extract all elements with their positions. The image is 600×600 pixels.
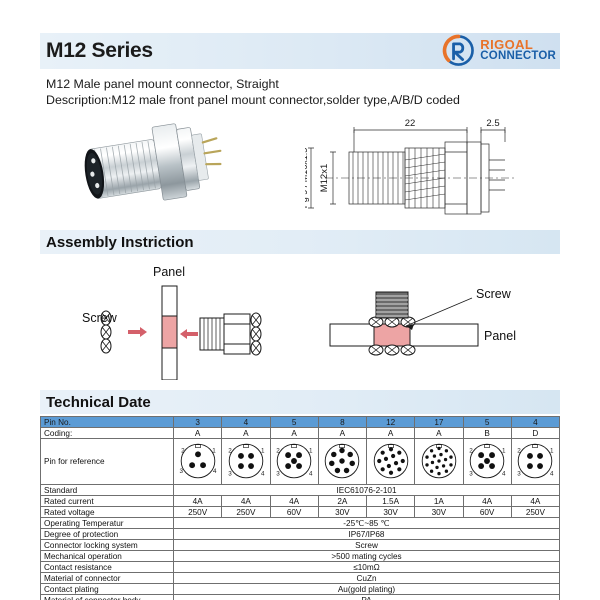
pin-layout-3-icon: 2314 [176, 440, 219, 484]
product-photo [78, 112, 248, 220]
pin-no-col-3: 8 [318, 417, 366, 428]
row-label-mechanical-operation: Mechanical operation [41, 551, 174, 562]
pin-diagram-cell-6: 2134 [463, 439, 511, 485]
table-row-operating-temperature: Operating Temperatur -25℃~85 ℃ [41, 518, 560, 529]
table-row-contact-plating: Contact plating Au(gold plating) [41, 584, 560, 595]
table-row-coding: Coding: A A A A A A B D [41, 428, 560, 439]
svg-text:2: 2 [469, 447, 473, 454]
material-of-connector-value: CuZn [174, 573, 560, 584]
svg-text:1: 1 [550, 447, 554, 454]
coding-col-6: B [463, 428, 511, 439]
pin-no-col-6: 5 [463, 417, 511, 428]
rated-voltage-col-0: 250V [174, 507, 222, 518]
dim-tail-label: 2.5 [486, 118, 499, 129]
assembly-left-screw-label: Screw [82, 311, 118, 325]
brand-logo: RIGOAL CONNECTOR [442, 34, 556, 67]
rated-current-col-1: 4A [222, 496, 270, 507]
rated-current-col-4: 1.5A [367, 496, 415, 507]
pin-diagram-cell-4 [367, 439, 415, 485]
table-row-pin-reference: Pin for reference 2314 2134 2134 2134 21… [41, 439, 560, 485]
subtitle-line-2: Description:M12 male front panel mount c… [46, 92, 560, 108]
pin-layout-17-icon [417, 440, 460, 484]
row-label-operating-temperature: Operating Temperatur [41, 518, 174, 529]
mechanical-operation-value: >500 mating cycles [174, 551, 560, 562]
row-label-body-material: Material of connector body [41, 595, 174, 600]
pin-face-diagram [370, 440, 412, 482]
pin-layout-5-icon: 2134 [273, 440, 316, 484]
row-label-contact-resistance: Contact resistance [41, 562, 174, 573]
coding-col-4: A [367, 428, 415, 439]
rated-voltage-col-4: 30V [367, 507, 415, 518]
pin-layout-5b-icon: 2134 [466, 440, 509, 484]
rated-current-col-6: 4A [463, 496, 511, 507]
coding-col-2: A [270, 428, 318, 439]
degree-of-protection-value: IP67/IP68 [174, 529, 560, 540]
logo-text-connector: CONNECTOR [480, 51, 556, 63]
table-row-body-material: Material of connector body PA [41, 595, 560, 600]
pin-no-col-4: 12 [367, 417, 415, 428]
row-label-standard: Standard [41, 485, 174, 496]
svg-text:1: 1 [309, 447, 313, 454]
rear-thread-label: Pg 9 / M16x1.5 [305, 148, 309, 209]
rigoal-r-logo-icon [442, 34, 475, 67]
svg-text:3: 3 [276, 470, 280, 477]
technical-section-header: Technical Date [40, 390, 560, 414]
pin-face-diagram: 2134 [225, 440, 267, 482]
assembly-right-screw-label: Screw [476, 287, 512, 301]
table-row-degree-of-protection: Degree of protection IP67/IP68 [41, 529, 560, 540]
contact-plating-value: Au(gold plating) [174, 584, 560, 595]
pin-face-diagram [321, 440, 363, 482]
svg-text:4: 4 [213, 467, 217, 474]
rated-current-col-3: 2A [318, 496, 366, 507]
pin-layout-8-icon [321, 440, 364, 484]
svg-text:2: 2 [181, 447, 185, 454]
pin-face-diagram [418, 440, 460, 482]
table-row-pin-no: Pin No. 3 4 5 8 12 17 5 4 [41, 417, 560, 428]
svg-text:2: 2 [228, 447, 232, 454]
table-row-mechanical-operation: Mechanical operation >500 mating cycles [41, 551, 560, 562]
technical-heading: Technical Date [40, 394, 151, 411]
coding-col-5: A [415, 428, 463, 439]
svg-text:3: 3 [179, 467, 183, 474]
locking-system-value: Screw [174, 540, 560, 551]
table-row-locking-system: Connector locking system Screw [41, 540, 560, 551]
assembly-left-panel-label: Panel [153, 265, 185, 279]
page-title: M12 Series [40, 39, 153, 63]
subtitle-block: M12 Male panel mount connector, Straight… [40, 76, 560, 108]
pin-face-diagram: 2134 [514, 440, 556, 482]
rated-voltage-col-3: 30V [318, 507, 366, 518]
svg-text:2: 2 [276, 447, 280, 454]
rated-current-col-5: 1A [415, 496, 463, 507]
thread-size-label: M12x1 [319, 164, 330, 193]
coding-col-3: A [318, 428, 366, 439]
coding-col-1: A [222, 428, 270, 439]
svg-text:1: 1 [261, 447, 265, 454]
dim-length-label: 22 [405, 118, 416, 129]
pin-diagram-cell-3 [318, 439, 366, 485]
pin-no-col-0: 3 [174, 417, 222, 428]
operating-temperature-value: -25℃~85 ℃ [174, 518, 560, 529]
datasheet-page: M12 Series RIGOAL CONNECTOR M12 Male pan… [0, 33, 600, 600]
rated-current-col-2: 4A [270, 496, 318, 507]
pin-no-col-1: 4 [222, 417, 270, 428]
table-row-contact-resistance: Contact resistance ≤10mΩ [41, 562, 560, 573]
rated-voltage-col-2: 60V [270, 507, 318, 518]
svg-text:3: 3 [469, 470, 473, 477]
pin-face-diagram: 2134 [466, 440, 508, 482]
pin-diagram-cell-1: 2134 [222, 439, 270, 485]
row-label-degree-of-protection: Degree of protection [41, 529, 174, 540]
row-label-pin-reference: Pin for reference [41, 439, 174, 485]
row-label-locking-system: Connector locking system [41, 540, 174, 551]
pin-face-diagram: 2134 [273, 440, 315, 482]
pin-no-col-5: 17 [415, 417, 463, 428]
svg-text:3: 3 [228, 470, 232, 477]
dimension-drawing: 22 2.5 M12x1 Pg 9 / M16x1.5 [305, 108, 565, 220]
rated-voltage-col-5: 30V [415, 507, 463, 518]
standard-value: IEC61076-2-101 [174, 485, 560, 496]
subtitle-line-1: M12 Male panel mount connector, Straight [46, 76, 560, 92]
pin-layout-4d-icon: 2134 [514, 440, 557, 484]
pin-layout-12-icon [369, 440, 412, 484]
rated-voltage-col-1: 250V [222, 507, 270, 518]
row-label-contact-plating: Contact plating [41, 584, 174, 595]
svg-text:4: 4 [261, 470, 265, 477]
row-label-coding: Coding: [41, 428, 174, 439]
row-label-pin-no: Pin No. [41, 417, 174, 428]
assembly-heading: Assembly Instriction [40, 234, 194, 251]
svg-text:1: 1 [212, 447, 216, 454]
pin-no-col-7: 4 [511, 417, 559, 428]
pin-diagram-cell-0: 2314 [174, 439, 222, 485]
rated-current-col-0: 4A [174, 496, 222, 507]
pin-no-col-2: 5 [270, 417, 318, 428]
technical-data-table: Pin No. 3 4 5 8 12 17 5 4 Coding: A A A … [40, 416, 560, 600]
rated-voltage-col-7: 250V [511, 507, 559, 518]
pin-diagram-cell-2: 2134 [270, 439, 318, 485]
svg-text:1: 1 [502, 447, 506, 454]
title-band: M12 Series RIGOAL CONNECTOR [40, 33, 560, 69]
pin-face-diagram: 2314 [177, 440, 219, 482]
row-label-rated-voltage: Rated voltage [41, 507, 174, 518]
coding-col-7: D [511, 428, 559, 439]
assembly-section-header: Assembly Instriction [40, 230, 560, 254]
assembly-right-panel-label: Panel [484, 329, 516, 343]
table-row-rated-voltage: Rated voltage 250V 250V 60V 30V 30V 30V … [41, 507, 560, 518]
body-material-value: PA [174, 595, 560, 600]
row-label-rated-current: Rated current [41, 496, 174, 507]
row-label-material-of-connector: Material of connector [41, 573, 174, 584]
pin-layout-4-icon: 2134 [224, 440, 267, 484]
svg-text:4: 4 [550, 470, 554, 477]
coding-col-0: A [174, 428, 222, 439]
svg-text:2: 2 [518, 447, 522, 454]
rated-voltage-col-6: 60V [463, 507, 511, 518]
table-row-rated-current: Rated current 4A 4A 4A 2A 1.5A 1A 4A 4A [41, 496, 560, 507]
svg-text:4: 4 [502, 470, 506, 477]
svg-text:3: 3 [518, 470, 522, 477]
pin-diagram-cell-5 [415, 439, 463, 485]
product-illustration-row: 22 2.5 M12x1 Pg 9 / M16x1.5 [40, 112, 560, 222]
pin-diagram-cell-7: 2134 [511, 439, 559, 485]
rated-current-col-7: 4A [511, 496, 559, 507]
table-row-standard: Standard IEC61076-2-101 [41, 485, 560, 496]
assembly-diagram-area: Screw Panel [40, 254, 560, 382]
table-row-material-of-connector: Material of connector CuZn [41, 573, 560, 584]
assembly-diagrams: Screw Panel [40, 254, 559, 380]
svg-text:4: 4 [309, 470, 313, 477]
contact-resistance-value: ≤10mΩ [174, 562, 560, 573]
